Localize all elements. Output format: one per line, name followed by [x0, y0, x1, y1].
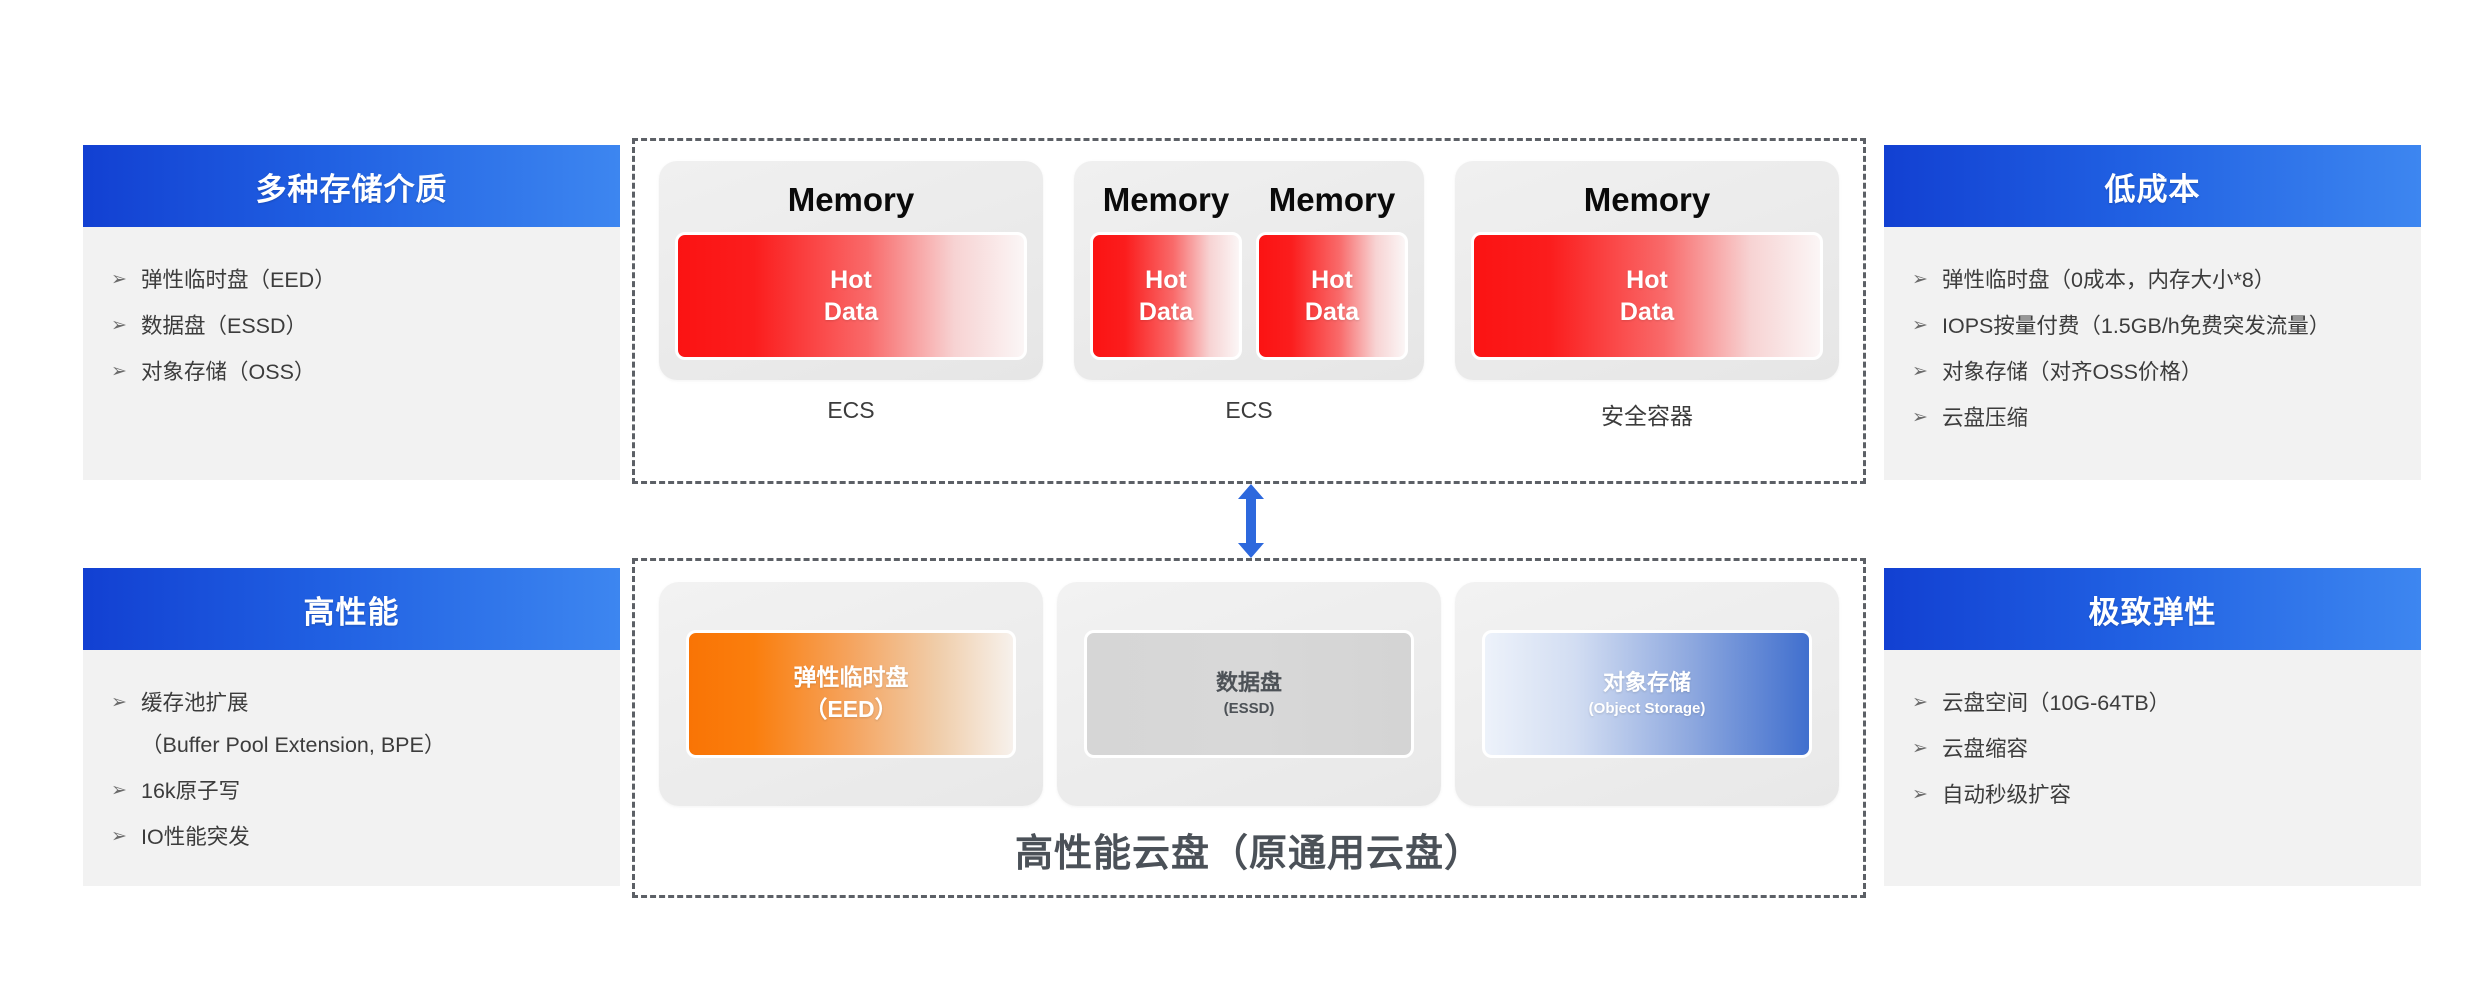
storage-card-inner: 对象存储(Object Storage) — [1482, 630, 1812, 758]
list-item: ➢缓存池扩展 — [83, 686, 620, 720]
list-item-label: 对象存储（对齐OSS价格） — [1942, 355, 2202, 389]
memory-label: Memory — [788, 179, 915, 220]
panel-title: 多种存储介质 — [256, 164, 448, 209]
storage-card-row: 弹性临时盘（EED）数据盘(ESSD)对象存储(Object Storage) — [635, 582, 1863, 806]
storage-card-title: 数据盘 — [1216, 669, 1282, 698]
list-item-label: 云盘缩容 — [1942, 732, 2028, 766]
diagram-canvas: 多种存储介质 ➢弹性临时盘（EED）➢数据盘（ESSD）➢对象存储（OSS） 低… — [0, 0, 2470, 990]
feature-list-high-performance: ➢缓存池扩展➢（Buffer Pool Extension, BPE）➢16k原… — [83, 686, 620, 854]
list-item-label: 16k原子写 — [141, 774, 240, 808]
memory-column: MemoryHotData — [1471, 179, 1823, 360]
compute-group-row: MemoryHotDataECSMemoryHotDataMemoryHotDa… — [635, 161, 1863, 431]
storage-card: 数据盘(ESSD) — [1057, 582, 1441, 806]
list-item-label: （Buffer Pool Extension, BPE） — [141, 728, 445, 762]
storage-card-inner: 数据盘(ESSD) — [1084, 630, 1414, 758]
panel-high-performance: 高性能 ➢缓存池扩展➢（Buffer Pool Extension, BPE）➢… — [83, 568, 620, 886]
memory-column: MemoryHotData — [675, 179, 1027, 360]
host-card: MemoryHotDataMemoryHotData — [1074, 161, 1424, 380]
hot-data-line2: Data — [1305, 296, 1359, 328]
arrow-bullet-icon: ➢ — [1912, 355, 1942, 389]
host-caption: ECS — [1225, 397, 1272, 424]
hot-data-block: HotData — [1090, 232, 1242, 360]
host-caption: ECS — [827, 397, 874, 424]
list-item: ➢云盘缩容 — [1884, 732, 2421, 766]
arrow-bullet-icon: ➢ — [1912, 401, 1942, 435]
list-item: ➢IO性能突发 — [83, 820, 620, 854]
list-item-label: 缓存池扩展 — [141, 686, 249, 720]
hot-data-block: HotData — [1256, 232, 1408, 360]
arrow-bullet-icon: ➢ — [1912, 778, 1942, 812]
hot-data-block: HotData — [1471, 232, 1823, 360]
storage-card-title: 对象存储 — [1603, 669, 1691, 698]
memory-column: MemoryHotData — [1090, 179, 1242, 360]
panel-body: ➢弹性临时盘（0成本，内存大小*8）➢IOPS按量付费（1.5GB/h免费突发流… — [1884, 227, 2421, 435]
compute-group: MemoryHotData安全容器 — [1455, 161, 1839, 431]
list-item: ➢弹性临时盘（EED） — [83, 263, 620, 297]
list-item-label: 弹性临时盘（EED） — [141, 263, 336, 297]
storage-card-title: 弹性临时盘 — [794, 663, 909, 693]
list-item: ➢云盘压缩 — [1884, 401, 2421, 435]
arrow-bullet-icon: ➢ — [1912, 263, 1942, 297]
panel-body: ➢弹性临时盘（EED）➢数据盘（ESSD）➢对象存储（OSS） — [83, 227, 620, 389]
hot-data-line1: Hot — [1626, 264, 1668, 296]
panel-body: ➢云盘空间（10G-64TB）➢云盘缩容➢自动秒级扩容 — [1884, 650, 2421, 812]
bidirectional-arrow-icon — [1237, 484, 1265, 558]
panel-header-high-performance: 高性能 — [83, 568, 620, 650]
list-item-label: IOPS按量付费（1.5GB/h免费突发流量） — [1942, 309, 2330, 343]
host-caption: 安全容器 — [1601, 397, 1693, 431]
panel-header-low-cost: 低成本 — [1884, 145, 2421, 227]
memory-label: Memory — [1584, 179, 1711, 220]
panel-title: 低成本 — [2105, 164, 2201, 209]
panel-title: 极致弹性 — [2089, 587, 2217, 632]
storage-card: 弹性临时盘（EED） — [659, 582, 1043, 806]
panel-extreme-elasticity: 极致弹性 ➢云盘空间（10G-64TB）➢云盘缩容➢自动秒级扩容 — [1884, 568, 2421, 886]
arrow-bullet-icon: ➢ — [111, 820, 141, 854]
list-item: ➢自动秒级扩容 — [1884, 778, 2421, 812]
memory-label: Memory — [1269, 179, 1396, 220]
feature-list-extreme-elasticity: ➢云盘空间（10G-64TB）➢云盘缩容➢自动秒级扩容 — [1884, 686, 2421, 812]
hot-data-line1: Hot — [1311, 264, 1353, 296]
memory-column: MemoryHotData — [1256, 179, 1408, 360]
arrow-bullet-icon: ➢ — [111, 355, 141, 389]
arrow-bullet-icon: ➢ — [1912, 686, 1942, 720]
storage-card-subtitle: (ESSD) — [1224, 699, 1275, 719]
storage-card-subtitle: (Object Storage) — [1589, 699, 1706, 719]
storage-card-inner: 弹性临时盘（EED） — [686, 630, 1016, 758]
storage-tier-container: 弹性临时盘（EED）数据盘(ESSD)对象存储(Object Storage) … — [632, 558, 1866, 898]
list-item: ➢对象存储（对齐OSS价格） — [1884, 355, 2421, 389]
list-item: ➢云盘空间（10G-64TB） — [1884, 686, 2421, 720]
arrow-bullet-icon: ➢ — [111, 263, 141, 297]
panel-header-extreme-elasticity: 极致弹性 — [1884, 568, 2421, 650]
arrow-bullet-icon: ➢ — [111, 686, 141, 720]
list-item: ➢IOPS按量付费（1.5GB/h免费突发流量） — [1884, 309, 2421, 343]
list-item-label: 云盘空间（10G-64TB） — [1942, 686, 2170, 720]
list-item-label: 对象存储（OSS） — [141, 355, 315, 389]
list-item: ➢对象存储（OSS） — [83, 355, 620, 389]
list-item-label: 自动秒级扩容 — [1942, 778, 2071, 812]
arrow-bullet-icon: ➢ — [111, 774, 141, 808]
hot-data-line2: Data — [1139, 296, 1193, 328]
panel-multi-storage-media: 多种存储介质 ➢弹性临时盘（EED）➢数据盘（ESSD）➢对象存储（OSS） — [83, 145, 620, 480]
list-item-label: 弹性临时盘（0成本，内存大小*8） — [1942, 263, 2275, 297]
feature-list-low-cost: ➢弹性临时盘（0成本，内存大小*8）➢IOPS按量付费（1.5GB/h免费突发流… — [1884, 263, 2421, 435]
panel-body: ➢缓存池扩展➢（Buffer Pool Extension, BPE）➢16k原… — [83, 650, 620, 854]
storage-tier-title: 高性能云盘（原通用云盘） — [635, 822, 1863, 877]
arrow-bullet-icon: ➢ — [111, 309, 141, 343]
compute-group: MemoryHotDataECS — [659, 161, 1043, 431]
arrow-bullet-icon: ➢ — [1912, 309, 1942, 343]
list-item: ➢（Buffer Pool Extension, BPE） — [83, 728, 620, 762]
arrow-bullet-icon: ➢ — [1912, 732, 1942, 766]
compute-tier-container: MemoryHotDataECSMemoryHotDataMemoryHotDa… — [632, 138, 1866, 484]
list-item: ➢16k原子写 — [83, 774, 620, 808]
hot-data-block: HotData — [675, 232, 1027, 360]
panel-header-multi-storage-media: 多种存储介质 — [83, 145, 620, 227]
compute-group: MemoryHotDataMemoryHotDataECS — [1074, 161, 1424, 431]
panel-low-cost: 低成本 ➢弹性临时盘（0成本，内存大小*8）➢IOPS按量付费（1.5GB/h免… — [1884, 145, 2421, 480]
panel-title: 高性能 — [304, 587, 400, 632]
list-item-label: IO性能突发 — [141, 820, 250, 854]
host-card: MemoryHotData — [1455, 161, 1839, 380]
hot-data-line2: Data — [824, 296, 878, 328]
hot-data-line1: Hot — [1145, 264, 1187, 296]
storage-card-subtitle: （EED） — [804, 694, 897, 725]
host-card: MemoryHotData — [659, 161, 1043, 380]
memory-label: Memory — [1103, 179, 1230, 220]
list-item-label: 云盘压缩 — [1942, 401, 2028, 435]
hot-data-line1: Hot — [830, 264, 872, 296]
list-item: ➢数据盘（ESSD） — [83, 309, 620, 343]
storage-card: 对象存储(Object Storage) — [1455, 582, 1839, 806]
list-item-label: 数据盘（ESSD） — [141, 309, 307, 343]
feature-list-multi-storage-media: ➢弹性临时盘（EED）➢数据盘（ESSD）➢对象存储（OSS） — [83, 263, 620, 389]
list-item: ➢弹性临时盘（0成本，内存大小*8） — [1884, 263, 2421, 297]
hot-data-line2: Data — [1620, 296, 1674, 328]
